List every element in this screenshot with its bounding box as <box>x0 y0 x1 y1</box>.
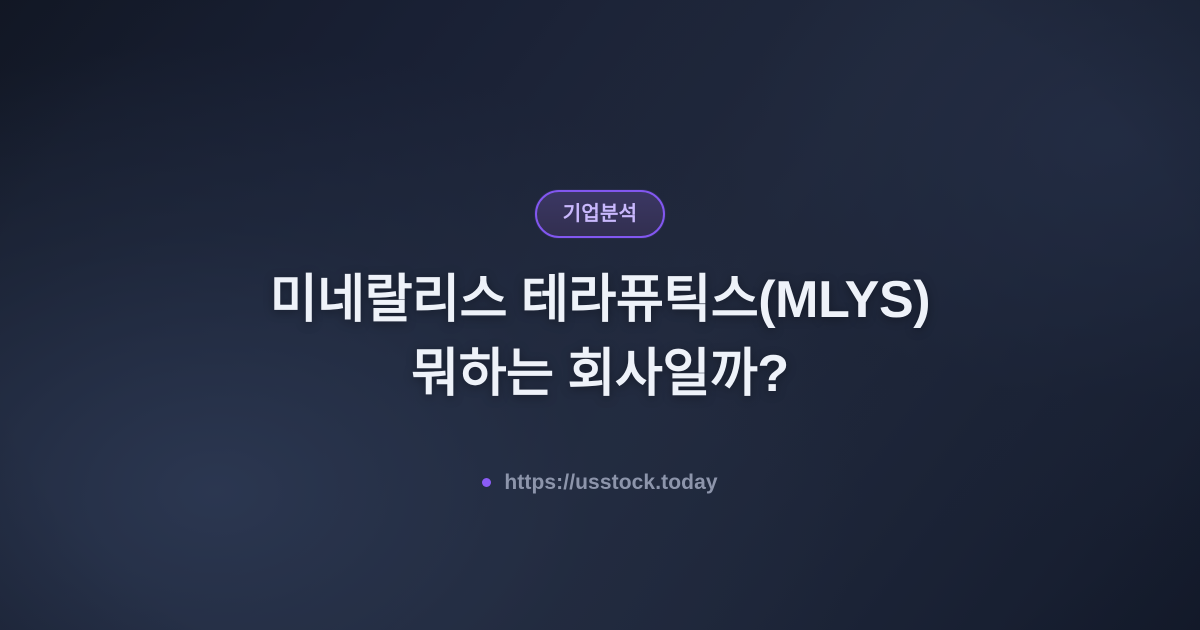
card-content: 기업분석 미네랄리스 테라퓨틱스(MLYS) 뭐하는 회사일까? https:/… <box>0 0 1200 493</box>
site-url-row: https://usstock.today <box>482 472 717 493</box>
category-badge-label: 기업분석 <box>563 204 637 224</box>
page-title-line-1: 미네랄리스 테라퓨틱스(MLYS) <box>100 264 1100 338</box>
site-url-label: https://usstock.today <box>504 472 717 493</box>
category-badge: 기업분석 <box>535 190 665 238</box>
og-share-card: 기업분석 미네랄리스 테라퓨틱스(MLYS) 뭐하는 회사일까? https:/… <box>0 0 1200 630</box>
dot-icon <box>482 478 491 487</box>
page-title: 미네랄리스 테라퓨틱스(MLYS) 뭐하는 회사일까? <box>100 264 1100 412</box>
page-title-line-2: 뭐하는 회사일까? <box>100 338 1100 412</box>
